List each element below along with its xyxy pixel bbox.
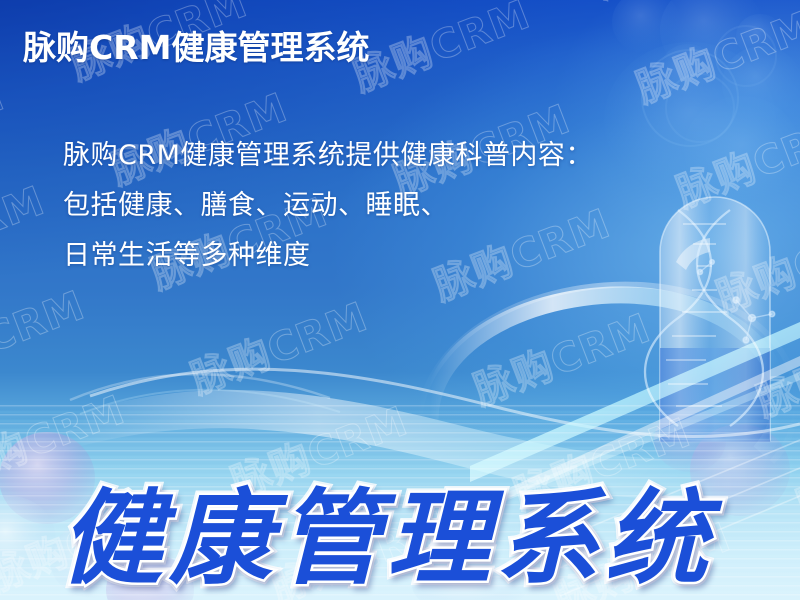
body-copy-line: 日常生活等多种维度 bbox=[63, 231, 593, 281]
page-title: 脉购CRM健康管理系统 bbox=[23, 21, 369, 69]
watermark-text: 脉购CRM bbox=[623, 63, 800, 261]
headline: 健康管理系统 bbox=[60, 455, 714, 600]
watermark-text: 脉购CRM bbox=[583, 0, 800, 156]
watermark-text: 脉购CRM bbox=[543, 0, 800, 52]
watermark-text: 脉购CRM bbox=[421, 261, 704, 459]
watermark-text: 脉购CRM bbox=[704, 272, 800, 470]
watermark-text: 脉购CRM bbox=[664, 168, 800, 366]
promo-banner: 脉购CRM 脉购CRM 脉购CRM 脉购CRM 脉购CRM 脉购CRM 脉购CR… bbox=[0, 0, 800, 600]
watermark-text: 脉购CRM bbox=[744, 377, 800, 575]
body-copy-line: 包括健康、膳食、运动、睡眠、 bbox=[63, 181, 593, 231]
body-copy: 脉购CRM健康管理系统提供健康科普内容： 包括健康、膳食、运动、睡眠、 日常生活… bbox=[63, 131, 593, 281]
body-copy-line: 脉购CRM健康管理系统提供健康科普内容： bbox=[63, 131, 593, 181]
watermark-text: 脉购CRM bbox=[784, 481, 800, 600]
